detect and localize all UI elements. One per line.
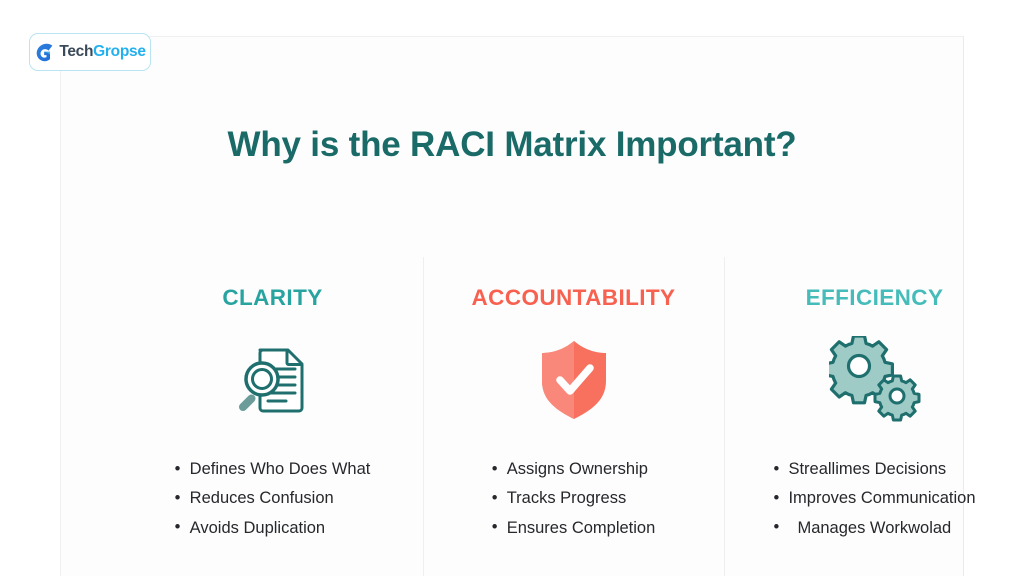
benefit-list-clarity: Defines Who Does What Reduces Confusion … xyxy=(175,455,371,543)
logo-text-secondary: Gropse xyxy=(93,43,145,60)
list-item: Streallimes Decisions xyxy=(773,455,975,484)
logo-text-primary: Tech xyxy=(59,43,93,60)
brand-logo-text: TechGropse xyxy=(59,44,145,60)
column-heading-accountability: ACCOUNTABILITY xyxy=(472,285,676,311)
benefits-columns: CLARITY Def xyxy=(122,257,1024,576)
column-heading-efficiency: EFFICIENCY xyxy=(806,285,944,311)
benefit-list-efficiency: Streallimes Decisions Improves Communica… xyxy=(773,455,975,543)
brand-logo-badge[interactable]: TechGropse xyxy=(29,33,151,71)
benefit-list-accountability: Assigns Ownership Tracks Progress Ensure… xyxy=(492,455,656,543)
benefit-column-clarity: CLARITY Def xyxy=(122,257,423,576)
slide-card: Why is the RACI Matrix Important? CLARIT… xyxy=(60,36,964,576)
list-item: Ensures Completion xyxy=(492,514,656,543)
benefit-column-accountability: ACCOUNTABILITY Assigns Ownership Tracks … xyxy=(423,257,724,576)
column-heading-clarity: CLARITY xyxy=(222,285,322,311)
list-item: Assigns Ownership xyxy=(492,455,656,484)
list-item: Tracks Progress xyxy=(492,484,656,513)
list-item: Defines Who Does What xyxy=(175,455,371,484)
techgropse-g-icon xyxy=(34,42,55,63)
list-item: Reduces Confusion xyxy=(175,484,371,513)
list-item: Manages Workwolad xyxy=(773,514,975,543)
list-item: Avoids Duplication xyxy=(175,514,371,543)
page-title: Why is the RACI Matrix Important? xyxy=(61,125,963,165)
gears-icon xyxy=(829,333,921,425)
shield-check-icon xyxy=(534,333,614,425)
document-magnifier-icon xyxy=(230,333,316,425)
list-item: Improves Communication xyxy=(773,484,975,513)
benefit-column-efficiency: EFFICIENCY Streallimes Decisions Improve… xyxy=(724,257,1024,576)
